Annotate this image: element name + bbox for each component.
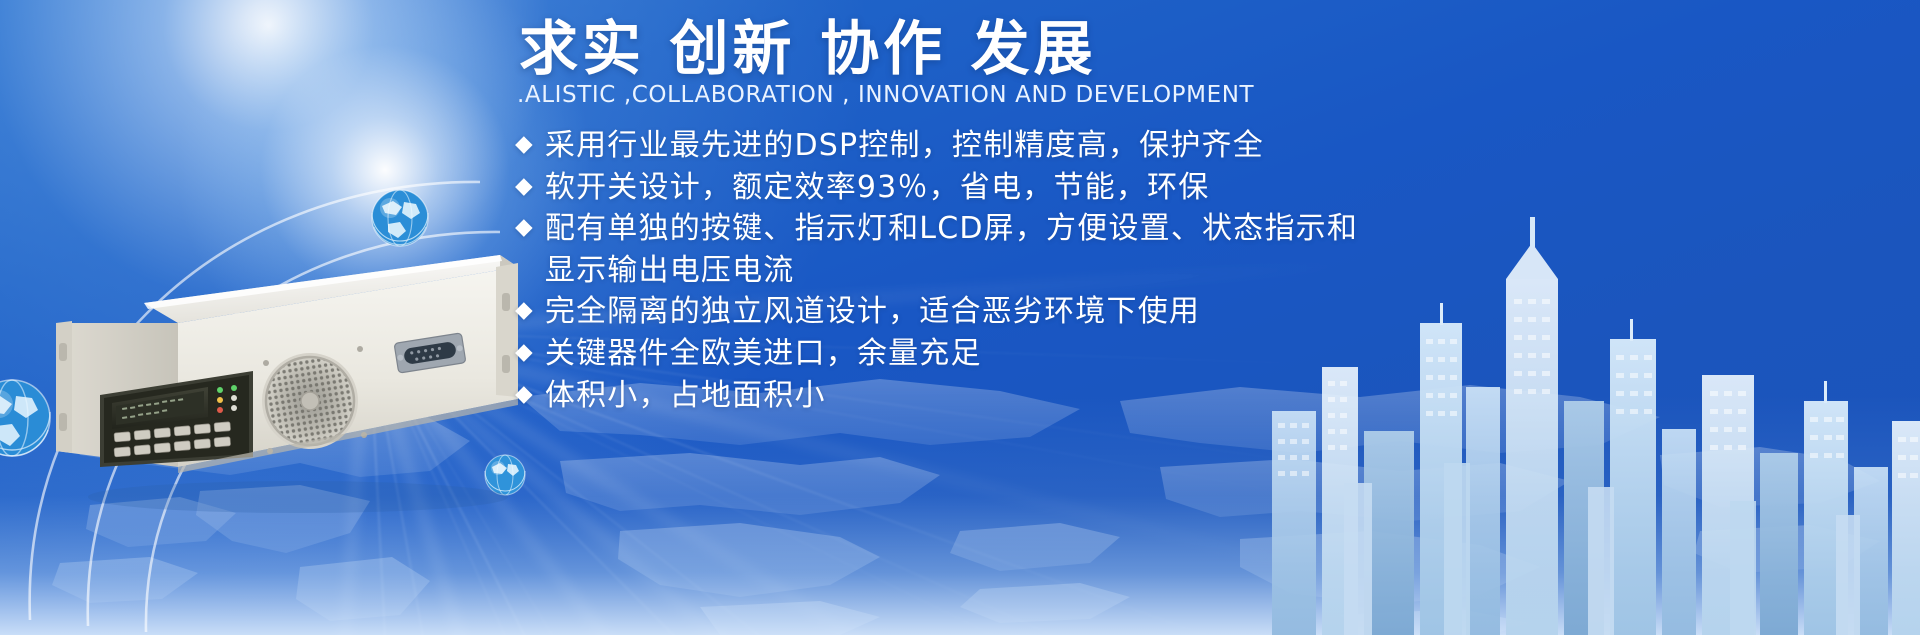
diamond-bullet-icon: ◆ [515,209,534,246]
diamond-bullet-icon: ◆ [515,376,534,413]
hero-banner: 求实 创新 协作 发展 .ALISTIC ,COLLABORATION , IN… [0,0,1920,635]
feature-list-item-label: 配有单独的按键、指示灯和LCD屏，方便设置、状态指示和 [545,209,1855,249]
feature-list-item: ◆完全隔离的独立风道设计，适合恶劣环境下使用 [515,292,1855,332]
feature-list-item: ◆关键器件全欧美进口，余量充足 [515,334,1855,374]
feature-list-item-label: 完全隔离的独立风道设计，适合恶劣环境下使用 [545,292,1855,332]
feature-list-item: ◆采用行业最先进的DSP控制，控制精度高，保护齐全 [515,126,1855,166]
feature-list-item-label: 采用行业最先进的DSP控制，控制精度高，保护齐全 [545,126,1855,166]
feature-list-item-label: 关键器件全欧美进口，余量充足 [545,334,1855,374]
banner-content: 求实 创新 协作 发展 .ALISTIC ,COLLABORATION , IN… [515,18,1855,417]
globe-icon-1 [0,380,50,456]
feature-list-item-label: 显示输出电压电流 [545,251,1855,291]
feature-list-item-label: 体积小，占地面积小 [545,376,1855,416]
diamond-bullet-icon: ◆ [515,168,534,205]
page-title: 求实 创新 协作 发展 [515,18,1855,80]
feature-list-item: ◆体积小，占地面积小 [515,376,1855,416]
feature-list-item: ◆软开关设计，额定效率93％，省电，节能，环保 [515,168,1855,208]
subtitle: .ALISTIC ,COLLABORATION , INNOVATION AND… [517,82,1855,108]
feature-list: ◆采用行业最先进的DSP控制，控制精度高，保护齐全◆软开关设计，额定效率93％，… [515,126,1855,415]
globe-icon-3 [372,190,428,246]
feature-list-item: ◆配有单独的按键、指示灯和LCD屏，方便设置、状态指示和 [515,209,1855,249]
diamond-bullet-icon: ◆ [515,334,534,371]
diamond-bullet-icon: ◆ [515,126,534,163]
feature-list-item: ◆显示输出电压电流 [515,251,1855,291]
rackmount-power-supply [48,245,518,515]
feature-list-item-label: 软开关设计，额定效率93％，省电，节能，环保 [545,168,1855,208]
diamond-bullet-icon: ◆ [515,292,534,329]
